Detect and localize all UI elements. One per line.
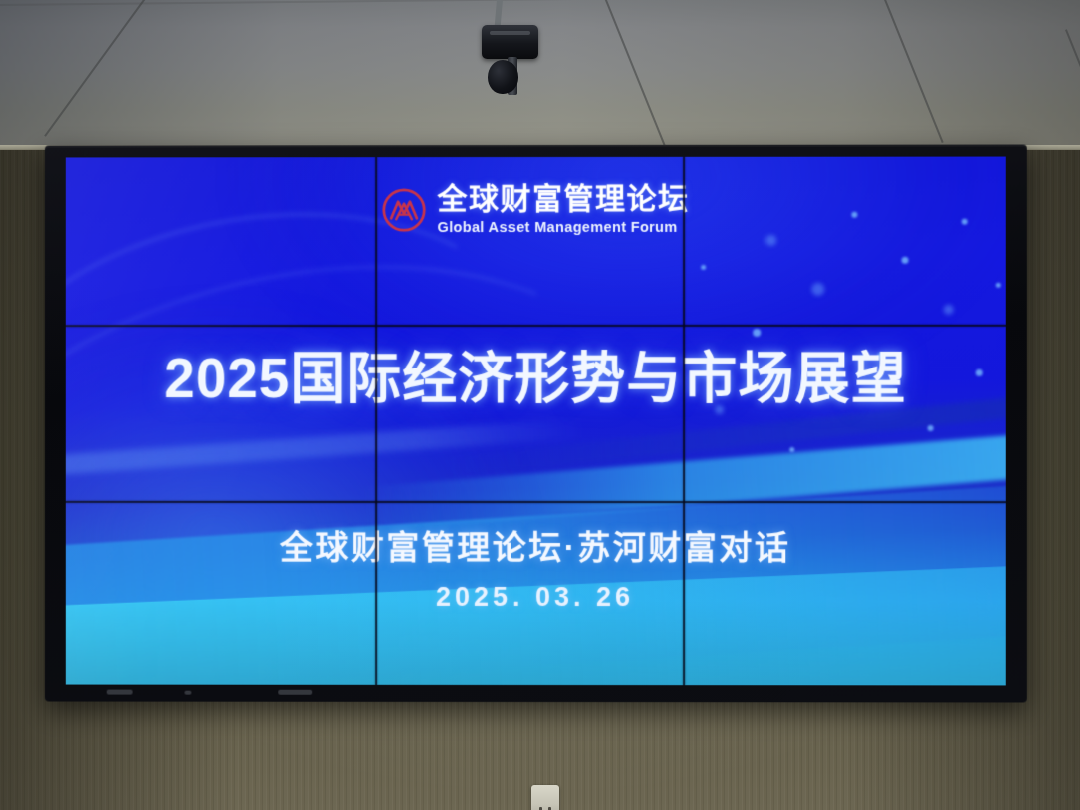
forum-logo-text: 全球财富管理论坛 Global Asset Management Forum xyxy=(438,185,690,236)
forum-name-en: Global Asset Management Forum xyxy=(438,221,690,236)
forum-logo-lockup: 全球财富管理论坛 Global Asset Management Forum xyxy=(66,185,1006,236)
forum-name-cn: 全球财富管理论坛 xyxy=(438,185,690,215)
slide-main-title: 2025国际经济形势与市场展望 xyxy=(66,333,1006,413)
video-wall-display[interactable]: 全球财富管理论坛 Global Asset Management Forum 2… xyxy=(45,145,1027,703)
bezel-status-led xyxy=(184,691,191,695)
slide-particle-dot xyxy=(996,283,1001,288)
ceiling-shading xyxy=(0,0,1080,152)
slide-particle-dot xyxy=(928,425,934,431)
slide-particle-dot xyxy=(901,257,908,264)
ceiling-camera xyxy=(482,25,538,59)
slide-particle-dot xyxy=(789,447,794,452)
wall-power-socket[interactable] xyxy=(531,785,559,810)
slide-particle-dot xyxy=(765,235,776,246)
slide-particle-dot xyxy=(701,265,706,270)
conference-room-scene: 全球财富管理论坛 Global Asset Management Forum 2… xyxy=(0,0,1080,810)
slide-particle-dot xyxy=(811,283,824,296)
bezel-brand-mark xyxy=(107,690,133,695)
bezel-sensor-strip xyxy=(278,690,312,695)
video-wall-screen[interactable]: 全球财富管理论坛 Global Asset Management Forum 2… xyxy=(66,157,1006,686)
display-bezel-indicators xyxy=(107,689,326,697)
slide-date: 2025. 03. 26 xyxy=(66,582,1006,614)
slide-subtitle: 全球财富管理论坛·苏河财富对话 xyxy=(66,521,1006,569)
gamf-monogram-logo-icon xyxy=(381,187,427,233)
ceiling xyxy=(0,0,1080,152)
camera-lens-icon xyxy=(488,60,518,94)
slide-particle-dot xyxy=(944,305,954,315)
